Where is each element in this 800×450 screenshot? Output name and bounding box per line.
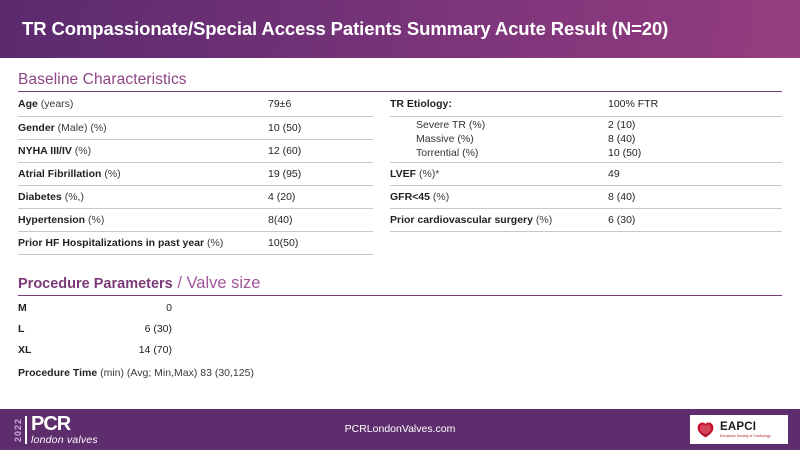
row-value: 6 (30): [608, 208, 782, 231]
section-heading-procedure: Procedure Parameters / Valve size: [18, 274, 260, 293]
baseline-top-rule: [18, 91, 782, 92]
baseline-right-table: TR Etiology: 100% FTR Severe TR (%) 2 (1…: [390, 93, 782, 232]
row-value: 10(50): [268, 231, 373, 254]
eapci-tagline: European Society of Cardiology: [720, 433, 771, 439]
row-label: Prior HF Hospitalizations in past year (…: [18, 231, 268, 254]
procedure-table: M 0 L 6 (30) XL 14 (70) Procedure Time (…: [18, 297, 378, 381]
section-heading-baseline: Baseline Characteristics: [18, 71, 187, 89]
table-row: Age (years) 79±6: [18, 93, 373, 116]
row-label: L: [18, 318, 118, 339]
row-value: 19 (95): [268, 162, 373, 185]
list-item: Severe TR (%) 2 (10): [390, 118, 782, 132]
subrow-label: Torrential (%): [390, 146, 608, 160]
row-value: 79±6: [268, 93, 373, 116]
row-label: XL: [18, 339, 118, 360]
etiology-subrows: Severe TR (%) 2 (10) Massive (%) 8 (40) …: [390, 116, 782, 162]
table-row: L 6 (30): [18, 318, 378, 339]
table-row: TR Etiology: 100% FTR: [390, 93, 782, 116]
logo-sub-text: london valves: [31, 434, 98, 446]
table-row: Gender (Male) (%) 10 (50): [18, 116, 373, 139]
row-value: 10 (50): [268, 116, 373, 139]
table-row: GFR<45 (%) 8 (40): [390, 185, 782, 208]
list-item: Massive (%) 8 (40): [390, 132, 782, 146]
table-row: Atrial Fibrillation (%) 19 (95): [18, 162, 373, 185]
slide-header: TR Compassionate/Special Access Patients…: [0, 0, 800, 58]
subrow-value: 8 (40): [608, 132, 768, 146]
table-row: LVEF (%)* 49: [390, 162, 782, 185]
eapci-name: EAPCI: [720, 421, 771, 433]
row-value: 4 (20): [268, 185, 373, 208]
row-value: 49: [608, 162, 782, 185]
baseline-left-table: Age (years) 79±6 Gender (Male) (%) 10 (5…: [18, 93, 373, 255]
table-row: M 0: [18, 297, 378, 318]
procedure-heading-sub: / Valve size: [173, 274, 261, 292]
table-row: XL 14 (70): [18, 339, 378, 360]
row-label: Prior cardiovascular surgery (%): [390, 208, 608, 231]
table-row: Prior HF Hospitalizations in past year (…: [18, 231, 373, 254]
subrow-value: 10 (50): [608, 146, 768, 160]
row-value: 6 (30): [118, 318, 378, 339]
table-row: Hypertension (%) 8(40): [18, 208, 373, 231]
row-label: TR Etiology:: [390, 93, 608, 116]
procedure-time-row: Procedure Time (min) (Avg; Min,Max) 83 (…: [18, 360, 378, 381]
table-row: Prior cardiovascular surgery (%) 6 (30): [390, 208, 782, 231]
row-label: GFR<45 (%): [390, 185, 608, 208]
row-label: Age (years): [18, 93, 268, 116]
row-value: 12 (60): [268, 139, 373, 162]
subrow-value: 2 (10): [608, 118, 768, 132]
row-label: Atrial Fibrillation (%): [18, 162, 268, 185]
subrow-label: Severe TR (%): [390, 118, 608, 132]
row-value: 14 (70): [118, 339, 378, 360]
subrow-label: Massive (%): [390, 132, 608, 146]
etiology-subrows-group: Severe TR (%) 2 (10) Massive (%) 8 (40) …: [390, 116, 782, 162]
table-row: NYHA III/IV (%) 12 (60): [18, 139, 373, 162]
row-value: 8 (40): [608, 185, 782, 208]
eapci-text: EAPCI European Society of Cardiology: [720, 421, 771, 439]
row-label: LVEF (%)*: [390, 162, 608, 185]
slide: TR Compassionate/Special Access Patients…: [0, 0, 800, 450]
row-value: 8(40): [268, 208, 373, 231]
eapci-badge: EAPCI European Society of Cardiology: [690, 415, 788, 444]
page-title: TR Compassionate/Special Access Patients…: [0, 18, 680, 40]
row-label: Diabetes (%,): [18, 185, 268, 208]
table-row: Diabetes (%,) 4 (20): [18, 185, 373, 208]
table-row: Procedure Time (min) (Avg; Min,Max) 83 (…: [18, 360, 378, 381]
row-value: 100% FTR: [608, 93, 782, 116]
row-label: Hypertension (%): [18, 208, 268, 231]
footer-website: PCRLondonValves.com: [0, 423, 800, 435]
row-value: 0: [118, 297, 378, 318]
row-label: M: [18, 297, 118, 318]
row-label: Gender (Male) (%): [18, 116, 268, 139]
row-label: NYHA III/IV (%): [18, 139, 268, 162]
procedure-top-rule: [18, 295, 782, 296]
heart-icon: [696, 420, 715, 439]
procedure-heading-main: Procedure Parameters: [18, 276, 173, 292]
list-item: Torrential (%) 10 (50): [390, 146, 782, 160]
